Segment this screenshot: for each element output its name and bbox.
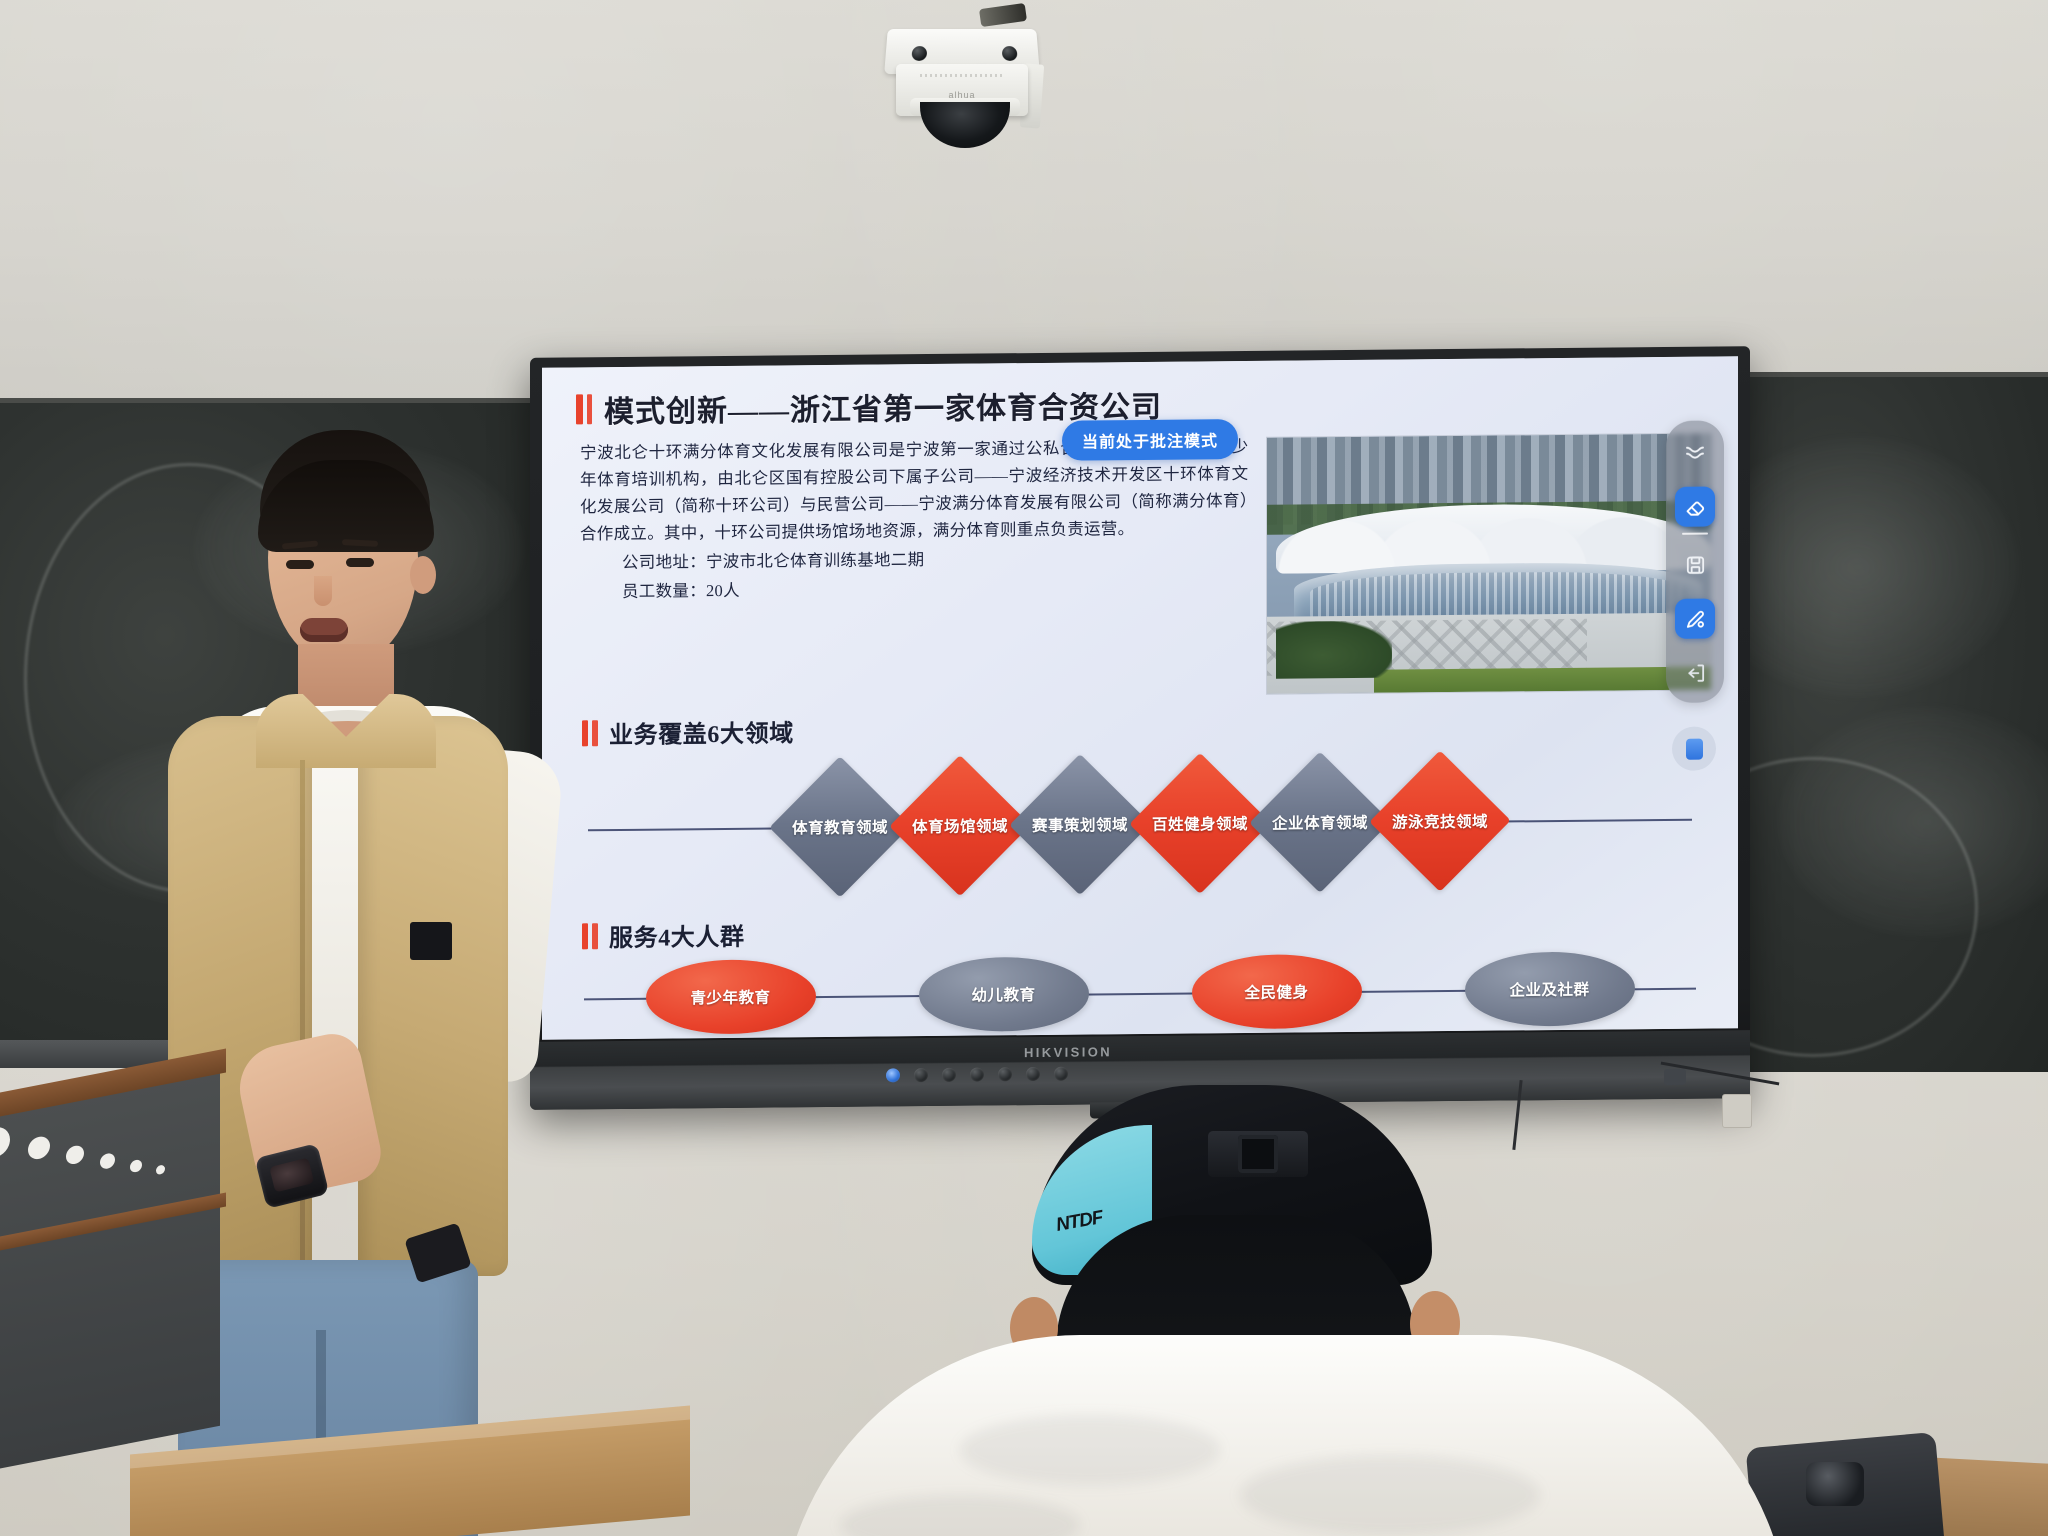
section-accent-bars <box>582 720 598 746</box>
list-item-label: 幼儿教育 <box>971 983 1035 1006</box>
lasso-select-icon[interactable] <box>1675 432 1715 472</box>
list-item[interactable]: 幼儿教育 <box>919 956 1089 1032</box>
section-heading-business: 业务覆盖6大领域 <box>582 705 1712 751</box>
slide-paragraph-block: 宁波北仑十环满分体育文化发展有限公司是宁波第一家通过公私合办的方式而成立的青少年… <box>568 433 1248 702</box>
business-domain-chain: 体育教育领域 体育场馆领域 赛事策划领域 百姓健身领域 <box>568 744 1712 905</box>
eraser-icon[interactable] <box>1675 486 1715 526</box>
list-item-label: 青少年教育 <box>690 986 770 1009</box>
list-item-label: 企业及社群 <box>1509 978 1589 1001</box>
list-item[interactable]: 游泳竞技领域 <box>1376 757 1504 886</box>
ceiling-camera: alhua <box>876 6 1048 148</box>
display-key[interactable] <box>914 1068 928 1082</box>
student-person: NTDF <box>890 1085 1680 1536</box>
title-accent-bars <box>576 394 592 424</box>
annotation-toolbar[interactable] <box>1666 420 1724 703</box>
pen-icon[interactable] <box>1675 598 1715 638</box>
display-key[interactable] <box>942 1068 956 1082</box>
vest-logo-patch <box>410 922 452 960</box>
section-one-title: 业务覆盖6大领域 <box>609 713 794 750</box>
cap-logo: NTDF <box>1054 1207 1104 1237</box>
list-item-label: 百姓健身领域 <box>1136 759 1264 888</box>
slide-address-line: 公司地址：宁波市北仑体育训练基地二期 <box>580 543 1248 576</box>
list-item[interactable]: 全民健身 <box>1192 954 1362 1030</box>
display-screen[interactable]: 模式创新——浙江省第一家体育合资公司 宁波北仑十环满分体育文化发展有限公司是宁波… <box>542 356 1738 1039</box>
display-brand-label: HIKVISION <box>1024 1044 1112 1060</box>
screenshot-root: alhua 模式创新——浙江省第一家体育合资公司 宁波北仑十环满分体育文化发展有… <box>0 0 2048 1536</box>
list-item[interactable]: 体育场馆领域 <box>896 761 1024 890</box>
cap-buckle <box>1238 1135 1278 1173</box>
list-item-label: 企业体育领域 <box>1256 758 1384 887</box>
display-key[interactable] <box>1054 1067 1068 1081</box>
display-control-keys[interactable] <box>886 1067 1068 1083</box>
blackboard-right <box>1738 372 2048 1072</box>
list-item-label: 赛事策划领域 <box>1016 760 1144 889</box>
slide-staff-line: 员工数量：20人 <box>580 572 1248 605</box>
list-item-label: 体育场馆领域 <box>896 761 1024 890</box>
wall-socket <box>1722 1094 1752 1128</box>
slide-body: 宁波北仑十环满分体育文化发展有限公司是宁波第一家通过公私合办的方式而成立的青少年… <box>568 429 1712 702</box>
interactive-display[interactable]: 模式创新——浙江省第一家体育合资公司 宁波北仑十环满分体育文化发展有限公司是宁波… <box>530 346 1750 1110</box>
section-accent-bars <box>582 923 598 949</box>
presenter-vest-right <box>358 716 508 1276</box>
camera-led-right <box>1002 46 1018 61</box>
list-item-label: 全民健身 <box>1244 980 1308 1003</box>
list-item[interactable]: 企业及社群 <box>1465 951 1635 1027</box>
audience-chain: 青少年教育 幼儿教育 全民健身 企业及社群 <box>568 945 1712 1040</box>
display-key[interactable] <box>1026 1067 1040 1081</box>
display-key[interactable] <box>970 1067 984 1081</box>
power-button[interactable] <box>886 1068 900 1082</box>
floating-app-icon[interactable] <box>1672 726 1716 770</box>
toolbar-divider <box>1682 533 1708 535</box>
list-item[interactable]: 赛事策划领域 <box>1016 760 1144 889</box>
ir-sensor <box>1664 1069 1686 1085</box>
exit-icon[interactable] <box>1675 652 1715 692</box>
save-icon[interactable] <box>1675 544 1715 584</box>
list-item[interactable]: 青少年教育 <box>646 959 816 1035</box>
list-item-label: 体育教育领域 <box>776 762 904 891</box>
camera-cable <box>979 3 1027 27</box>
list-item[interactable]: 企业体育领域 <box>1256 758 1384 887</box>
camera-dome-lens <box>920 102 1010 148</box>
chair-knob <box>1806 1462 1864 1506</box>
list-item[interactable]: 百姓健身领域 <box>1136 759 1264 888</box>
annotation-mode-badge: 当前处于批注模式 <box>1062 419 1238 461</box>
list-item[interactable]: 体育教育领域 <box>776 762 904 891</box>
stadium-photo <box>1266 433 1712 695</box>
list-item-label: 游泳竞技领域 <box>1376 757 1504 886</box>
camera-led-left <box>911 46 927 61</box>
section-two-title: 服务4大人群 <box>609 917 745 953</box>
lectern <box>0 1066 220 1475</box>
camera-ir-strip <box>920 74 1004 77</box>
display-key[interactable] <box>998 1067 1012 1081</box>
student-shirt <box>780 1335 1790 1536</box>
